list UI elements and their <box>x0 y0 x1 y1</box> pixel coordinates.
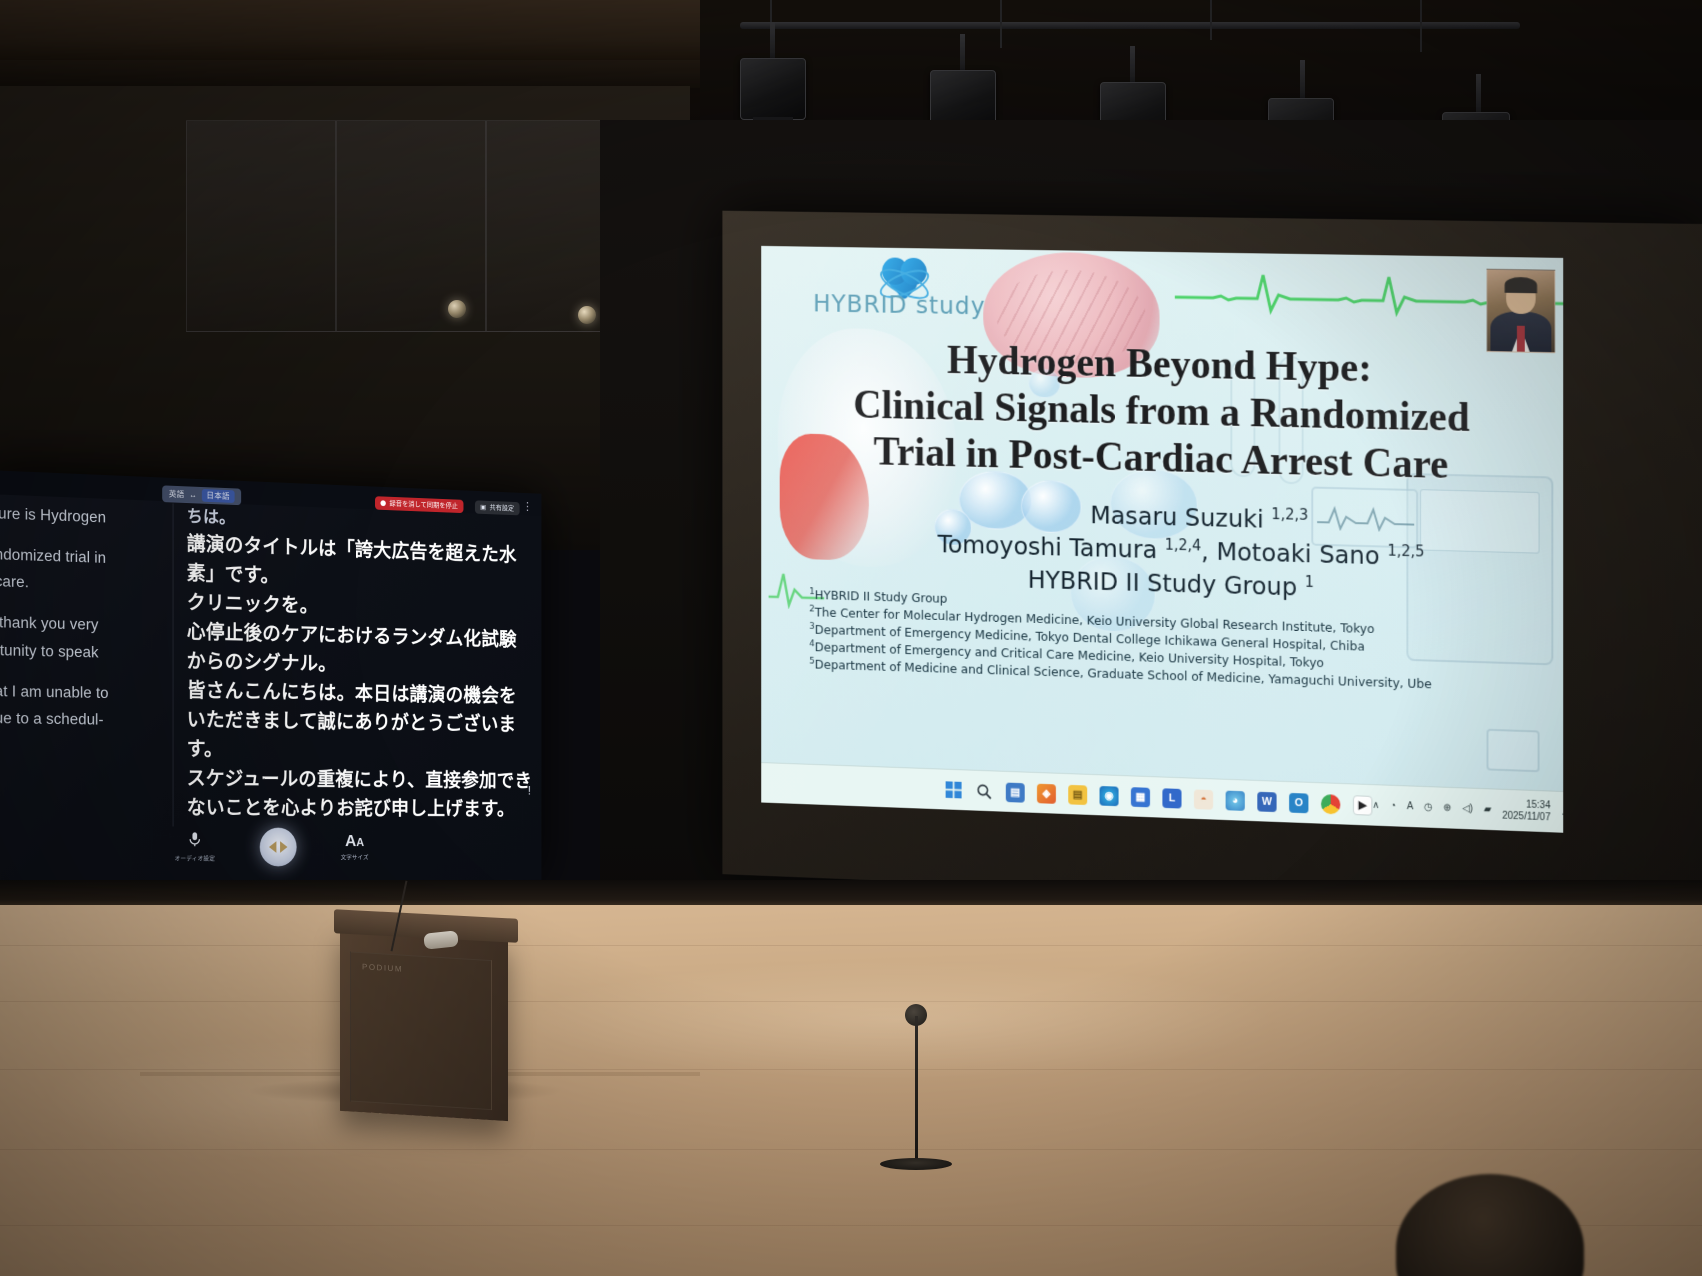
share-label: 共有設定 <box>490 503 515 513</box>
windows-taskbar: ▤ ◈ ▤ ◉ ▦ L ◓ ◕ W O ▶ ∧ ◔ A ◷ <box>761 762 1563 833</box>
share-settings-button[interactable]: ▣ 共有設定 <box>475 500 519 515</box>
author-sup-tamura: 1,2,4 <box>1165 535 1202 554</box>
stage-light-stem-1 <box>770 22 775 60</box>
hybrid-study-logo: HYBRID study <box>813 258 929 310</box>
font-size-button[interactable]: AA 文字サイズ <box>341 833 369 861</box>
network-icon[interactable]: ⊕ <box>1443 803 1451 814</box>
podium-front-panel <box>350 951 492 1110</box>
author-sup-sano: 1,2,5 <box>1387 541 1424 560</box>
battery-icon[interactable]: ▰ <box>1484 804 1492 815</box>
volume-icon[interactable]: ◁) <box>1462 803 1473 814</box>
floor-mic-stand <box>915 1016 918 1166</box>
alert-icon: ! <box>528 783 531 797</box>
share-icon: ▣ <box>480 503 486 511</box>
projection-screen-frame: HYBRID study Hydrogen Beyond Hype: Clini… <box>722 211 1702 914</box>
speaker-illustration <box>1487 729 1540 773</box>
font-size-icon: AA <box>345 833 364 849</box>
presentation-slide: HYBRID study Hydrogen Beyond Hype: Clini… <box>761 246 1563 833</box>
stage-light-stem-5 <box>1476 74 1481 116</box>
lang-source: 英語 <box>169 489 185 500</box>
clock-date: 2025/11/07 <box>1502 810 1550 824</box>
teams-icon[interactable]: ◕ <box>1226 790 1245 810</box>
live-caption-monitor: 英語 ↔ 日本語 録音を消して同期を停止 ▣ 共有設定 ⋮ cture is H… <box>0 470 541 882</box>
outlook-icon[interactable]: O <box>1289 792 1308 812</box>
caption-ja-line-3: 心停止後のケアにおけるランダム化試験からのシグナル。 <box>187 617 533 683</box>
cloud-sync-icon[interactable]: ◔ <box>1390 801 1396 812</box>
stage-light-stem-3 <box>1130 46 1135 84</box>
stop-recording-label: 録音を消して同期を停止 <box>389 499 458 511</box>
floor-mic-base <box>880 1158 952 1170</box>
audio-settings-label: オーディオ設定 <box>175 854 215 863</box>
author-name-tamura: Tomoyoshi Tamura <box>938 530 1165 564</box>
chevron-up-icon[interactable]: ∧ <box>1372 800 1379 811</box>
slide-title: Hydrogen Beyond Hype: Clinical Signals f… <box>776 335 1551 492</box>
word-icon[interactable]: W <box>1257 791 1276 811</box>
logo-text-study: study <box>916 291 986 320</box>
rig-cable-2 <box>1000 0 1002 48</box>
lighting-truss <box>740 22 1520 29</box>
author-name-sano: , Motoaki Sano <box>1201 537 1387 571</box>
taskbar-clock[interactable]: 15:34 2025/11/07 <box>1502 798 1550 823</box>
bell-icon[interactable]: ♪ <box>1561 807 1563 818</box>
affiliation-text-1: HYBRID II Study Group <box>815 588 948 606</box>
clock-icon[interactable]: ◷ <box>1424 802 1433 813</box>
record-dot-icon <box>380 500 385 506</box>
wall-glass-panel-1 <box>186 120 336 332</box>
ceiling-beam-secondary <box>0 60 700 88</box>
floor-highlight-1 <box>520 960 1280 1080</box>
powerpoint-icon[interactable]: ▶ <box>1353 795 1372 815</box>
firefox-icon[interactable]: ◓ <box>1194 789 1213 809</box>
caption-ja-line-5: スケジュールの重複により、直接参加できないことを心よりお詫び申し上げます。 <box>187 763 533 823</box>
caption-en-line-1: cture is Hydrogen <box>0 500 165 534</box>
lang-target: 日本語 <box>202 489 235 503</box>
caption-column-english: cture is Hydrogen andomized trial in t c… <box>0 496 173 826</box>
audio-settings-button[interactable]: オーディオ設定 <box>175 831 215 862</box>
caption-ja-line-1: 講演のタイトルは「誇大広告を超えた水素」です。 <box>187 529 533 598</box>
author-name-suzuki: Masaru Suzuki <box>1090 501 1271 534</box>
wall-light-dot-2 <box>578 306 596 324</box>
wall-light-dot-1 <box>448 300 466 318</box>
windows-start-icon[interactable] <box>944 780 963 800</box>
microphone-icon <box>189 831 201 851</box>
stage-light-1 <box>740 58 806 120</box>
search-icon[interactable] <box>975 781 994 801</box>
rig-cable-4 <box>1420 0 1422 52</box>
author-sup-group: 1 <box>1305 572 1314 590</box>
stage-light-stem-2 <box>960 34 965 72</box>
portrait-hair <box>1505 277 1537 293</box>
task-view-icon[interactable]: ▤ <box>1006 782 1025 802</box>
sync-toggle-button[interactable] <box>260 828 297 867</box>
ceiling-beam-wood <box>0 0 760 66</box>
font-size-label: 文字サイズ <box>341 852 369 861</box>
ime-icon[interactable]: A <box>1407 801 1413 812</box>
logo-text-hybrid: HYBRID <box>813 289 907 319</box>
stop-recording-button[interactable]: 録音を消して同期を停止 <box>375 496 463 513</box>
taskbar-app-icons: ▤ ◈ ▤ ◉ ▦ L ◓ ◕ W O ▶ <box>944 780 1373 815</box>
author-sup-suzuki: 1,2,3 <box>1271 505 1308 524</box>
conference-hall-photo: 英語 ↔ 日本語 録音を消して同期を停止 ▣ 共有設定 ⋮ cture is H… <box>0 0 1702 1276</box>
caption-en-line-2: andomized trial in t care. <box>0 541 165 600</box>
copilot-icon[interactable]: ◈ <box>1037 783 1056 803</box>
language-toggle[interactable]: 英語 ↔ 日本語 <box>162 485 241 505</box>
logo-wordmark: HYBRID study <box>813 289 986 320</box>
wall-glass-panel-2 <box>336 120 486 332</box>
speaker-portrait-photo <box>1487 269 1556 354</box>
line-icon[interactable]: L <box>1162 788 1181 808</box>
caption-screen: 英語 ↔ 日本語 録音を消して同期を停止 ▣ 共有設定 ⋮ cture is H… <box>0 470 541 882</box>
lang-swap-icon[interactable]: ↔ <box>189 490 197 499</box>
podium: PODIUM <box>340 925 508 1121</box>
edge-icon[interactable]: ◉ <box>1100 785 1119 805</box>
caption-column-japanese: ちは。 講演のタイトルは「誇大広告を超えた水素」です。 クリニックを。 心停止後… <box>174 503 542 827</box>
sync-circle-icon <box>260 828 297 867</box>
store-icon[interactable]: ▦ <box>1131 787 1150 807</box>
rig-cable-3 <box>1210 0 1212 40</box>
caption-toolbar: オーディオ設定 AA 文字サイズ <box>0 818 541 876</box>
file-explorer-icon[interactable]: ▤ <box>1068 784 1087 804</box>
caption-en-line-4: nat I am unable to due to a schedul- <box>0 678 165 735</box>
caption-en-line-3: d thank you very ortunity to speak <box>0 609 165 667</box>
caption-columns: cture is Hydrogen andomized trial in t c… <box>0 496 541 827</box>
taskbar-system-tray: ∧ ◔ A ◷ ⊕ ◁) ▰ 15:34 2025/11/07 ♪ <box>1372 794 1563 825</box>
stage-light-stem-4 <box>1300 60 1305 100</box>
kebab-menu-icon[interactable]: ⋮ <box>522 501 532 511</box>
chrome-icon[interactable] <box>1321 794 1340 814</box>
caption-ja-line-4: 皆さんこんにちは。本日は講演の機会をいただきまして誠にありがとうございます。 <box>187 676 533 767</box>
